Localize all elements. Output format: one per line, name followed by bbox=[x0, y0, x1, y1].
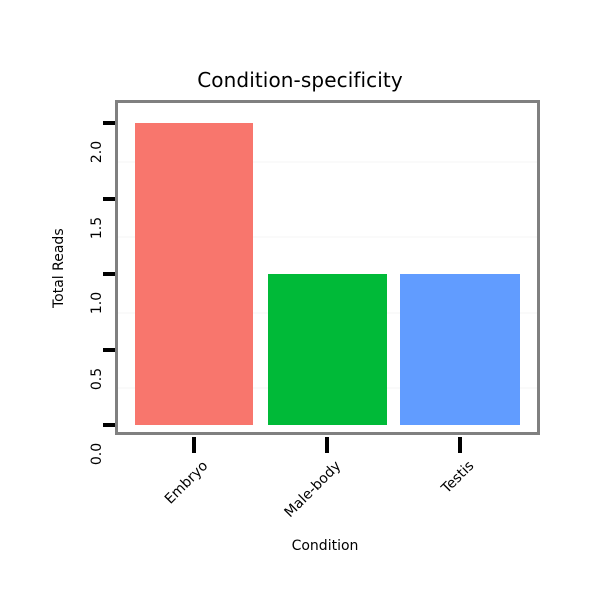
y-axis-tick-label: 1.0 bbox=[89, 273, 105, 333]
x-axis-tick bbox=[192, 437, 196, 453]
plot-panel bbox=[115, 100, 540, 435]
x-axis-tick-label: Male-body bbox=[192, 458, 345, 600]
y-axis-tick-label: 0.5 bbox=[89, 349, 105, 409]
y-axis-tick-label: 0.0 bbox=[89, 424, 105, 484]
bar-embryo bbox=[135, 123, 253, 425]
x-axis-tick-label: Embryo bbox=[59, 458, 212, 600]
x-axis-tick-label: Testis bbox=[325, 458, 478, 600]
chart-canvas: Condition-specificity Total Reads 0.00.5… bbox=[0, 0, 600, 600]
chart-title: Condition-specificity bbox=[0, 68, 600, 92]
bar-male-body bbox=[268, 274, 387, 425]
y-axis-tick-label: 2.0 bbox=[89, 122, 105, 182]
x-axis-tick bbox=[325, 437, 329, 453]
x-axis-tick bbox=[458, 437, 462, 453]
bar-testis bbox=[400, 274, 520, 425]
y-axis-tick-label: 1.5 bbox=[89, 198, 105, 258]
x-axis-title: Condition bbox=[0, 538, 600, 554]
y-axis-title: Total Reads bbox=[51, 228, 67, 308]
